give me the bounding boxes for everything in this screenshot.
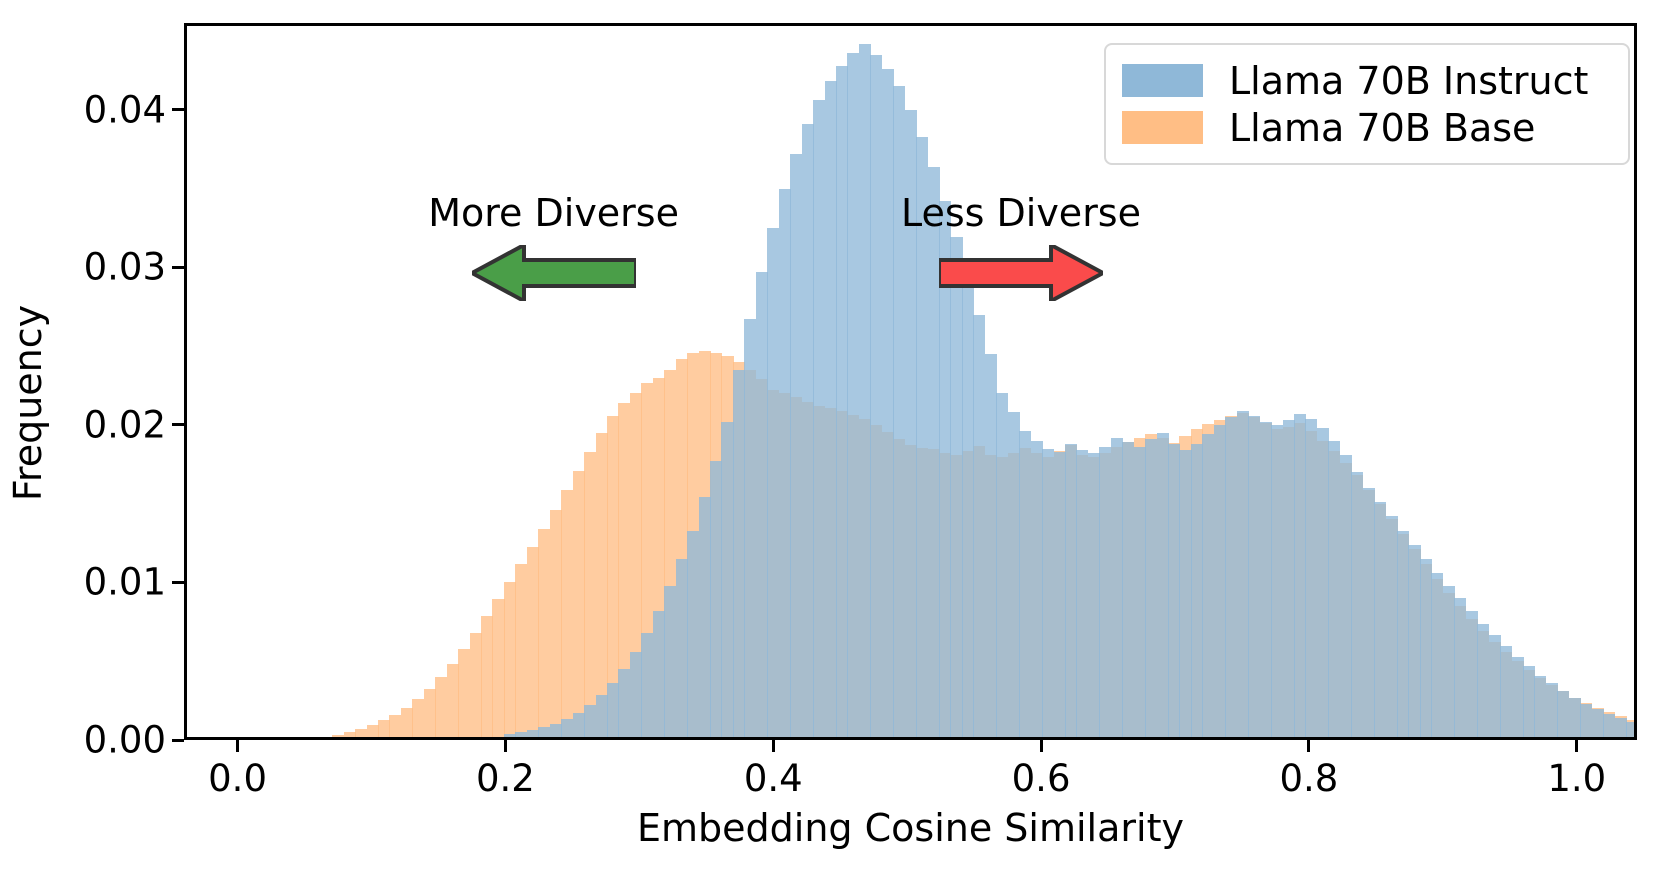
histogram-bar	[882, 69, 894, 737]
histogram-bar	[1466, 611, 1478, 737]
histogram-bar	[721, 422, 733, 737]
histogram-bar	[527, 730, 539, 737]
legend-swatch-instruct	[1122, 64, 1203, 97]
histogram-bar	[1523, 666, 1535, 737]
histogram-bar	[538, 727, 550, 737]
histogram-bar	[1580, 704, 1592, 737]
histogram-bar	[973, 315, 985, 737]
histogram-bar	[1454, 598, 1466, 737]
histogram-bar	[1283, 420, 1295, 737]
legend-label-instruct: Llama 70B Instruct	[1229, 62, 1588, 100]
histogram-bar	[596, 695, 608, 737]
histogram-bar	[1305, 419, 1317, 737]
y-tick-mark	[172, 108, 184, 111]
legend-item: Llama 70B Base	[1122, 109, 1612, 147]
histogram-bar	[630, 652, 642, 737]
y-tick-mark	[172, 266, 184, 269]
histogram-bar	[641, 633, 653, 737]
histogram-bar	[779, 189, 791, 737]
histogram-bar	[1065, 444, 1077, 737]
x-tick-label: 0.2	[476, 757, 535, 800]
histogram-bar	[1054, 452, 1066, 737]
histogram-bar	[1340, 455, 1352, 737]
annotation-label: More Diverse	[428, 191, 679, 235]
y-tick-mark	[172, 581, 184, 584]
histogram-bar	[676, 559, 688, 737]
x-tick-label: 0.0	[208, 757, 267, 800]
annotation-arrow-right	[939, 245, 1103, 301]
histogram-bar	[1363, 488, 1375, 737]
x-tick-label: 0.8	[1279, 757, 1338, 800]
histogram-bar	[1157, 433, 1169, 737]
histogram-bar	[744, 319, 756, 737]
histogram-bar	[1134, 447, 1146, 737]
histogram-bar	[1500, 646, 1512, 737]
x-tick-mark	[772, 740, 775, 752]
y-axis-label: Frequency	[6, 223, 50, 583]
histogram-bar	[996, 393, 1008, 737]
histogram-bar	[1145, 439, 1157, 737]
histogram-bar	[1008, 412, 1020, 737]
histogram-bar	[1099, 447, 1111, 737]
histogram-bar	[1328, 441, 1340, 737]
histogram-bar	[1260, 422, 1272, 737]
x-tick-mark	[1040, 740, 1043, 752]
histogram-bar	[802, 124, 814, 737]
histogram-bar	[573, 713, 585, 737]
histogram-bar	[1019, 431, 1031, 737]
histogram-bar	[1546, 683, 1558, 737]
x-axis-label: Embedding Cosine Similarity	[184, 806, 1637, 850]
y-tick-mark	[172, 739, 184, 742]
histogram-bar	[1557, 691, 1569, 737]
histogram-bar	[1420, 559, 1432, 737]
histogram-bar	[504, 734, 516, 737]
x-tick-mark	[504, 740, 507, 752]
histogram-bar	[1603, 714, 1615, 737]
legend-swatch-base	[1122, 111, 1203, 144]
y-tick-label: 0.03	[84, 246, 166, 289]
histogram-bar	[985, 354, 997, 737]
x-tick-mark	[1307, 740, 1310, 752]
histogram-bar	[1534, 676, 1546, 737]
histogram-bar	[962, 275, 974, 737]
histogram-bar	[790, 154, 802, 737]
legend-label-base: Llama 70B Base	[1229, 109, 1535, 147]
histogram-bar	[584, 705, 596, 737]
histogram-bar	[699, 497, 711, 737]
histogram-bar	[1397, 531, 1409, 737]
histogram-bar	[1443, 586, 1455, 737]
histogram-bar	[1569, 698, 1581, 737]
histogram-bar	[1122, 442, 1134, 737]
histogram-bar	[1202, 434, 1214, 737]
histogram-bar	[1076, 450, 1088, 737]
histogram-bar	[836, 66, 848, 737]
chart-legend: Llama 70B Instruct Llama 70B Base	[1104, 43, 1630, 165]
histogram-bar	[1179, 450, 1191, 737]
y-tick-label: 0.00	[84, 719, 166, 762]
annotation-label: Less Diverse	[901, 191, 1141, 235]
histogram-bar	[825, 81, 837, 737]
histogram-bar	[1615, 718, 1627, 737]
histogram-bar	[618, 669, 630, 737]
histogram-bar	[950, 237, 962, 737]
histogram-bar	[756, 272, 768, 737]
histogram-bar	[607, 683, 619, 737]
histogram-bar	[767, 228, 779, 737]
histogram-bar	[1237, 411, 1249, 737]
histogram-bar	[1042, 449, 1054, 737]
histogram-bar	[1477, 624, 1489, 737]
histogram-bar	[1271, 425, 1283, 737]
histogram-figure: 0.00.20.40.60.81.0 0.000.010.020.030.04 …	[0, 0, 1661, 881]
histogram-bar	[1592, 709, 1604, 737]
histogram-bar	[1031, 441, 1043, 737]
histogram-bar	[813, 100, 825, 737]
histogram-bar	[515, 732, 527, 737]
histogram-bar	[653, 611, 665, 737]
histogram-bar	[1408, 545, 1420, 737]
histogram-bar	[1351, 472, 1363, 737]
histogram-bar	[1626, 722, 1634, 737]
x-tick-label: 1.0	[1547, 757, 1606, 800]
annotation-arrow-left	[472, 245, 636, 301]
histogram-bar	[664, 586, 676, 737]
histogram-bar	[1111, 438, 1123, 737]
x-tick-mark	[1575, 740, 1578, 752]
histogram-bar	[893, 86, 905, 737]
histogram-bar	[1088, 453, 1100, 737]
histogram-bar	[1317, 428, 1329, 737]
histogram-bar	[847, 53, 859, 737]
histogram-bar	[1248, 416, 1260, 737]
histogram-bar	[1225, 417, 1237, 737]
histogram-bar	[1386, 516, 1398, 737]
histogram-bar	[1168, 444, 1180, 737]
legend-item: Llama 70B Instruct	[1122, 62, 1612, 100]
histogram-bar	[859, 44, 871, 737]
histogram-bar	[870, 55, 882, 737]
histogram-bar	[561, 719, 573, 737]
histogram-bar	[733, 370, 745, 737]
histogram-bar	[1431, 573, 1443, 737]
y-tick-label: 0.04	[84, 88, 166, 131]
histogram-bar	[1191, 444, 1203, 737]
y-tick-label: 0.01	[84, 561, 166, 604]
x-tick-label: 0.6	[1012, 757, 1071, 800]
histogram-bar	[710, 461, 722, 737]
y-tick-mark	[172, 423, 184, 426]
x-tick-label: 0.4	[744, 757, 803, 800]
histogram-bar	[1512, 657, 1524, 737]
y-tick-label: 0.02	[84, 403, 166, 446]
histogram-bar	[1214, 425, 1226, 737]
histogram-bar	[550, 724, 562, 737]
histogram-bar	[1374, 502, 1386, 737]
histogram-bar	[687, 531, 699, 737]
histogram-bar	[1294, 414, 1306, 737]
histogram-bar	[928, 167, 940, 737]
x-tick-mark	[236, 740, 239, 752]
histogram-bar	[1489, 635, 1501, 737]
